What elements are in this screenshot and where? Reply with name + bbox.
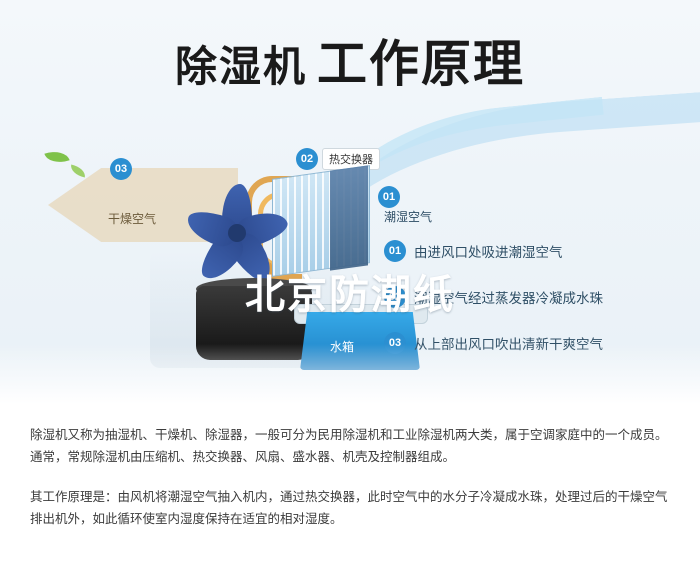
step-text: 潮湿空气经过蒸发器冷凝成水珠 xyxy=(414,287,603,307)
step-item: 02 潮湿空气经过蒸发器冷凝成水珠 xyxy=(384,286,684,308)
badge-03: 03 xyxy=(110,158,132,180)
badge-02: 02 xyxy=(296,148,318,170)
step-number: 01 xyxy=(384,240,406,262)
leaf-icon xyxy=(44,147,69,167)
steps-list: 01 由进风口处吸进潮湿空气 02 潮湿空气经过蒸发器冷凝成水珠 03 从上部出… xyxy=(384,240,684,378)
fan-hub xyxy=(228,224,246,242)
step-number: 03 xyxy=(384,332,406,354)
step-number: 02 xyxy=(384,286,406,308)
page-title-part2: 工作原理 xyxy=(317,36,525,92)
leaf-icon xyxy=(69,164,87,177)
step-text: 从上部出风口吹出清新干爽空气 xyxy=(414,333,603,353)
humid-air-label: 潮湿空气 xyxy=(384,208,432,225)
description-paragraph-1: 除湿机又称为抽湿机、干燥机、除湿器，一般可分为民用除湿机和工业除湿机两大类，属于… xyxy=(30,424,670,468)
compressor-icon xyxy=(196,286,312,360)
step-item: 01 由进风口处吸进潮湿空气 xyxy=(384,240,684,262)
illustration-panel: 除湿机工作原理 干燥空气 03 02 01 热交换器 潮湿空气 xyxy=(0,0,700,404)
dry-air-label: 干燥空气 xyxy=(108,210,156,227)
page-root: 除湿机工作原理 干燥空气 03 02 01 热交换器 潮湿空气 xyxy=(0,0,700,566)
paragraph-gap xyxy=(30,474,670,486)
page-title-part1: 除湿机 xyxy=(175,43,307,90)
fan-icon xyxy=(176,170,296,280)
description-section: 除湿机又称为抽湿机、干燥机、除湿器，一般可分为民用除湿机和工业除湿机两大类，属于… xyxy=(0,404,700,566)
step-item: 03 从上部出风口吹出清新干爽空气 xyxy=(384,332,684,354)
badge-01: 01 xyxy=(378,186,400,208)
heat-exchanger-side xyxy=(330,165,368,270)
step-text: 由进风口处吸进潮湿空气 xyxy=(414,241,563,261)
page-title: 除湿机工作原理 xyxy=(0,24,700,96)
water-tank-label: 水箱 xyxy=(330,338,354,355)
description-paragraph-2: 其工作原理是：由风机将潮湿空气抽入机内，通过热交换器，此时空气中的水分子冷凝成水… xyxy=(30,486,670,530)
